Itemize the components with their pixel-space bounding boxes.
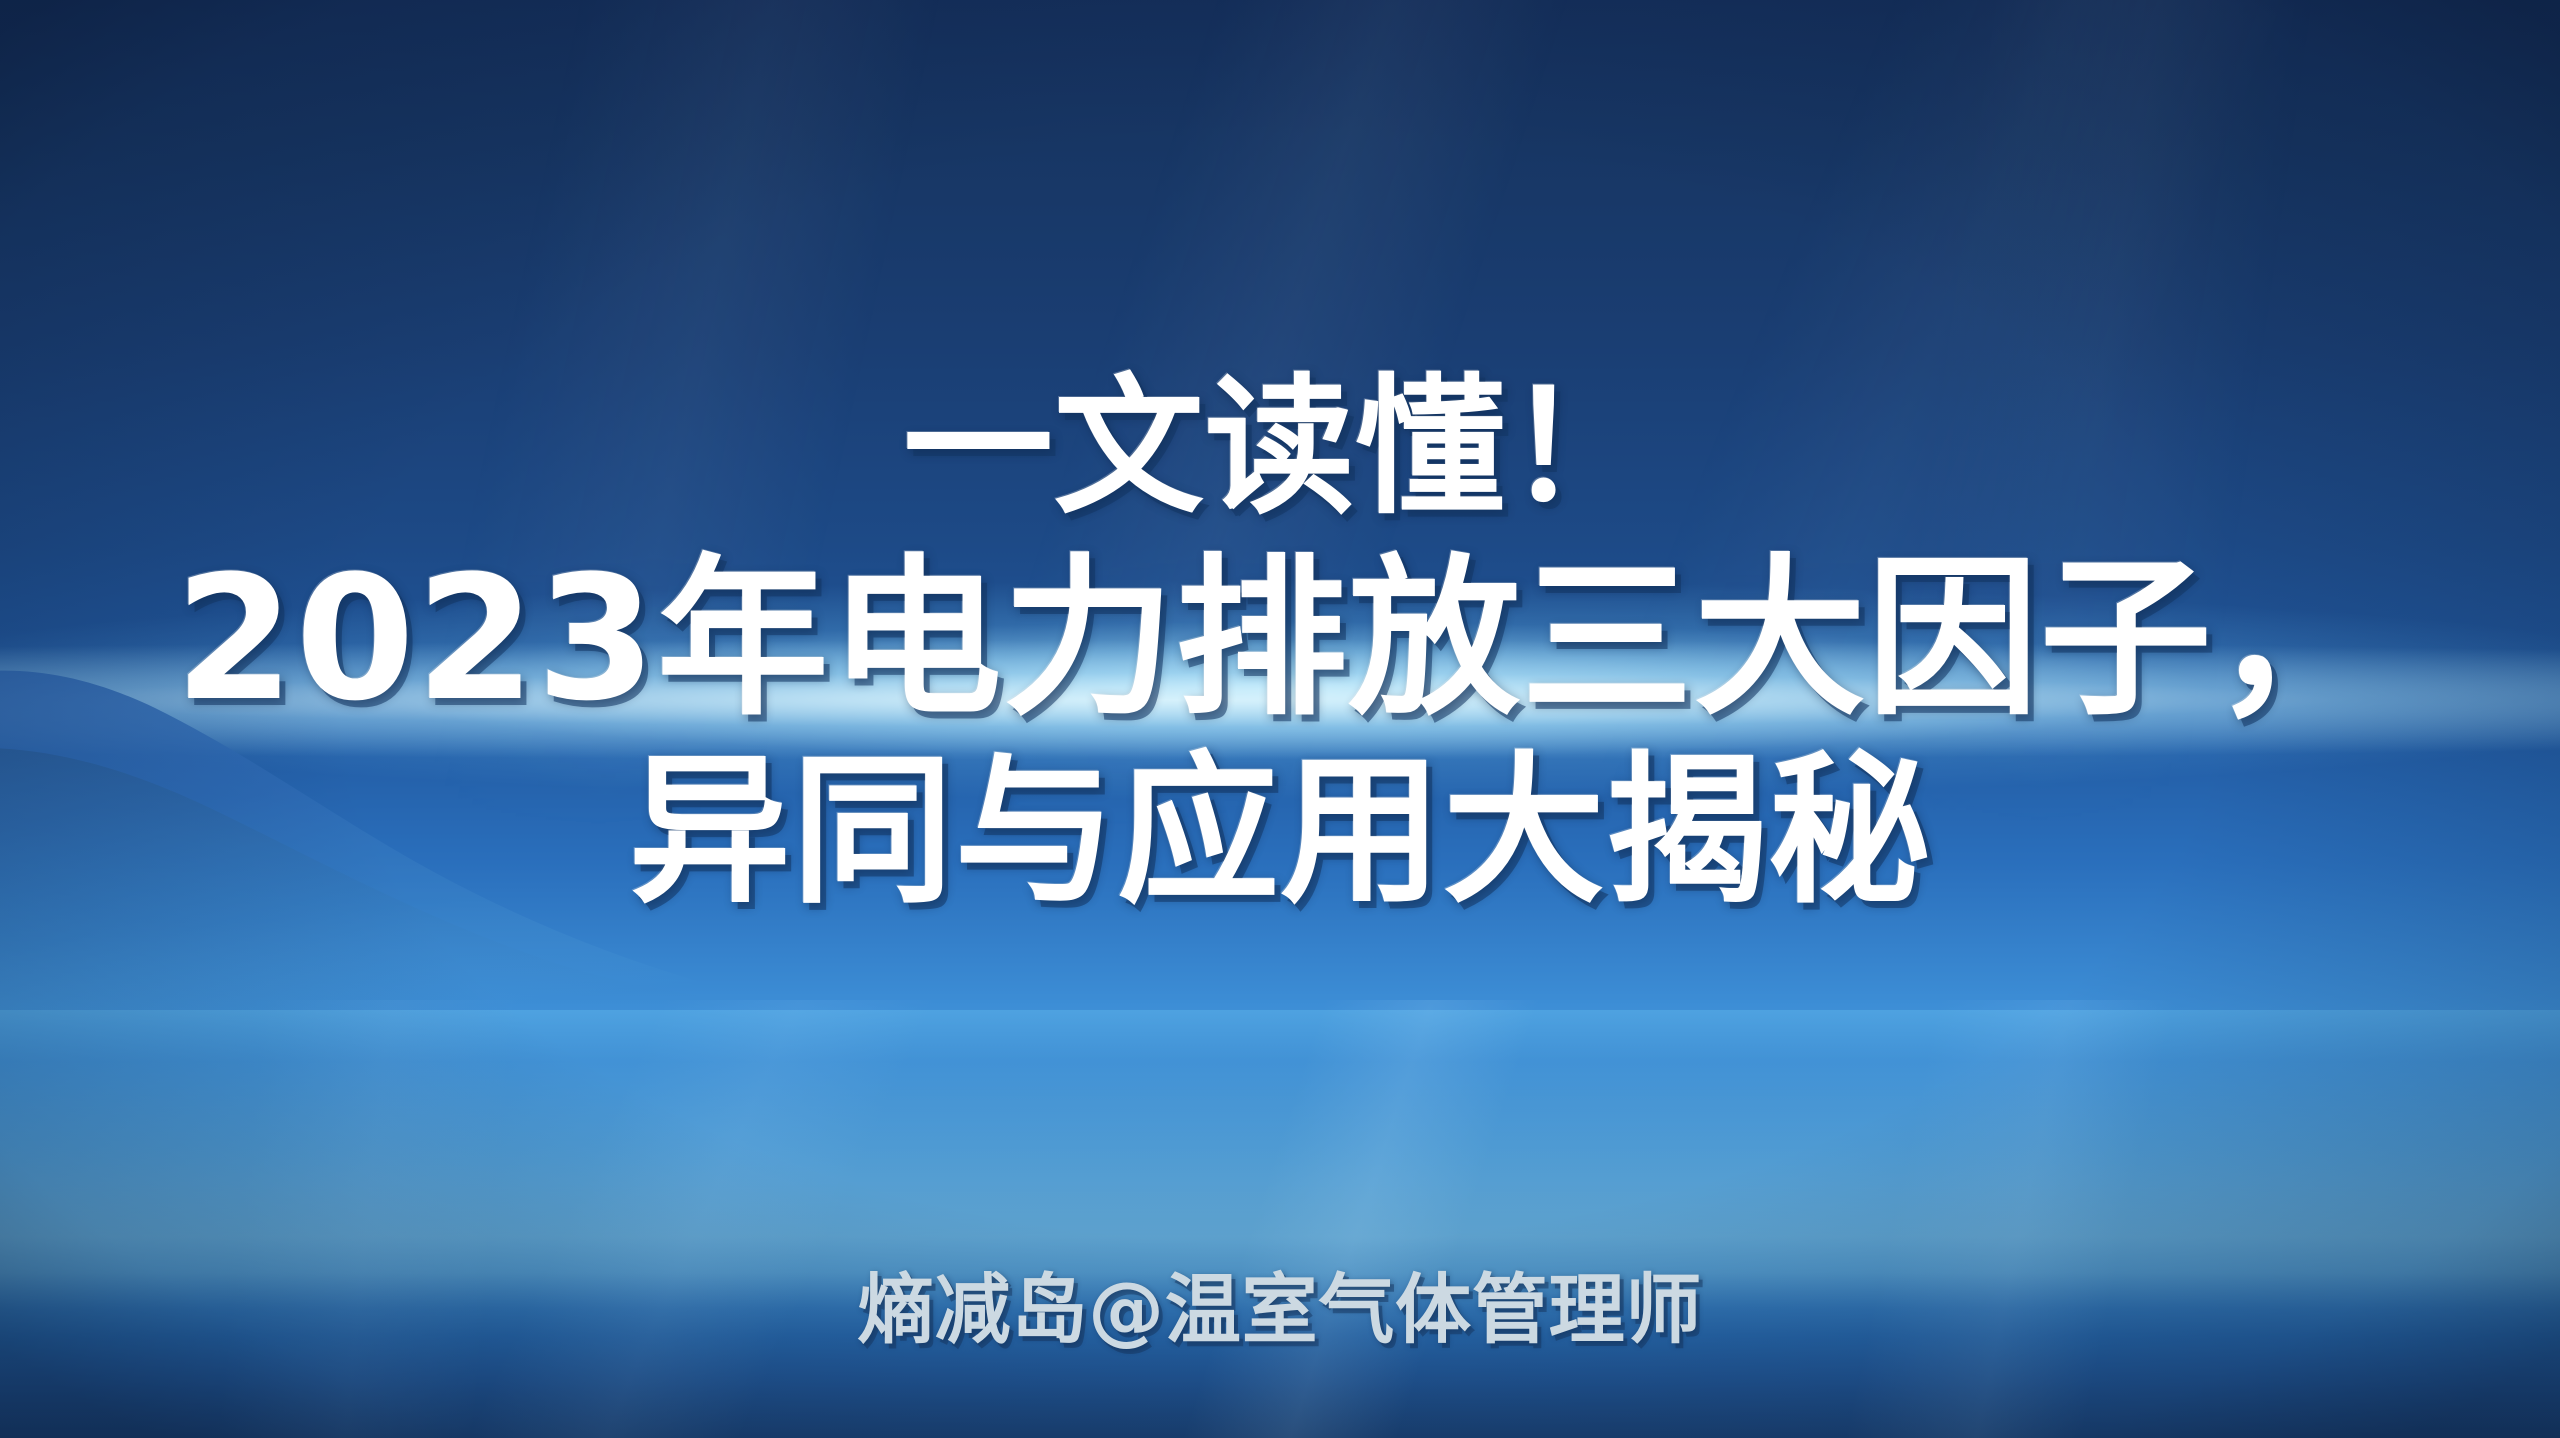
title-block: 一文读懂！ 2023年电力排放三大因子， 异同与应用大揭秘 <box>0 372 2560 916</box>
watermark: 熵减岛@温室气体管理师 <box>0 1248 2560 1358</box>
light-streaks <box>0 1000 2560 1438</box>
watermark-text: 熵减岛@温室气体管理师 <box>858 1248 1702 1358</box>
reflective-plain <box>0 1010 2560 1438</box>
title-line-2: 2023年电力排放三大因子， <box>0 551 2560 726</box>
title-card-canvas: 一文读懂！ 2023年电力排放三大因子， 异同与应用大揭秘 熵减岛@温室气体管理… <box>0 0 2560 1438</box>
title-line-1: 一文读懂！ <box>0 372 2560 525</box>
title-line-3: 异同与应用大揭秘 <box>0 750 2560 915</box>
